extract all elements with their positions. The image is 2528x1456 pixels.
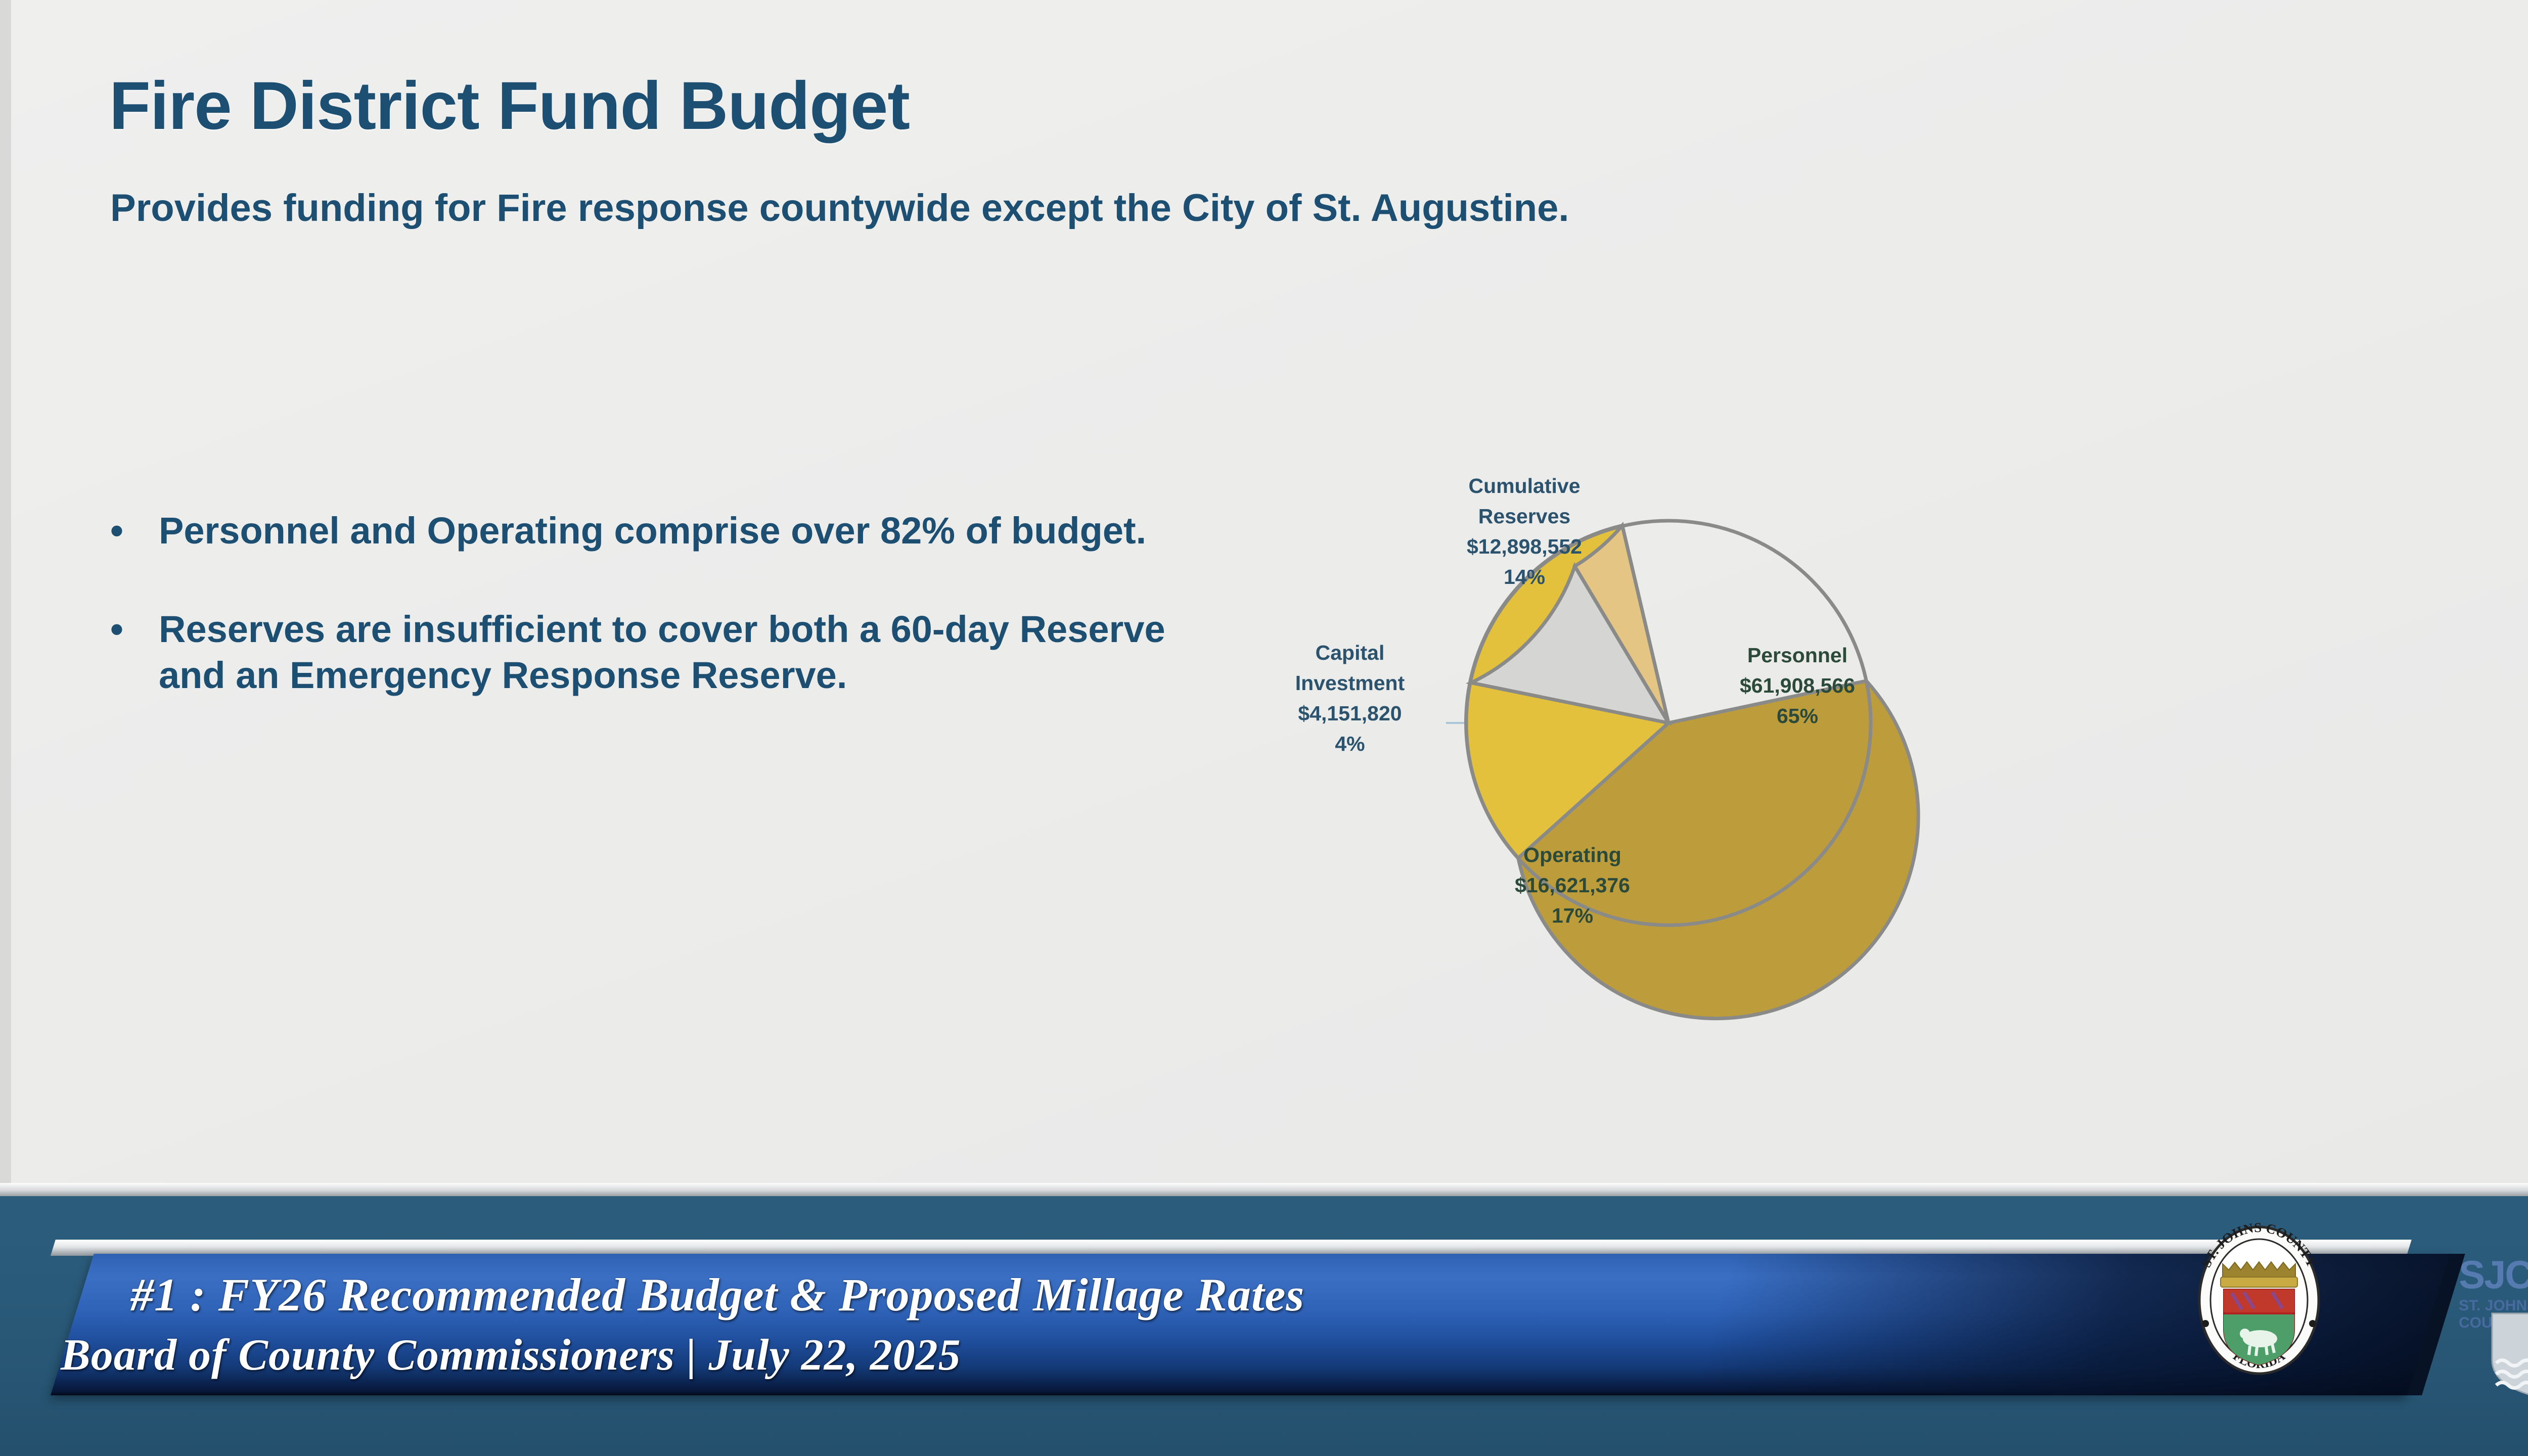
bullet-text: Reserves are insufficient to cover both …	[159, 607, 1212, 698]
pie-label-personnel-percent: 65%	[1777, 704, 1818, 727]
footer-band-top-rail	[0, 1183, 2528, 1196]
presentation-slide: Fire District Fund Budget Provides fundi…	[0, 0, 2528, 1456]
pie-chart-svg: Personnel $61,908,566 65% Operating $16,…	[1224, 369, 2184, 1102]
slide-left-edge	[0, 0, 11, 1189]
pie-label-cumulative-reserves-name-line2: Reserves	[1478, 505, 1570, 528]
pie-label-capital-investment: Capital Investment $4,151,820 4%	[1295, 641, 1405, 755]
banner-meeting-info: Board of County Commissioners | July 22,…	[61, 1330, 961, 1381]
bullet-marker-icon: •	[110, 508, 125, 554]
pie-label-personnel-value: $61,908,566	[1740, 674, 1855, 697]
bullet-list: • Personnel and Operating comprise over …	[110, 508, 1212, 751]
pie-label-operating-value: $16,621,376	[1515, 874, 1630, 897]
pie-label-cumulative-reserves-percent: 14%	[1504, 565, 1545, 588]
pie-label-capital-investment-name-line2: Investment	[1295, 671, 1405, 695]
seal-dot-left	[2202, 1320, 2209, 1327]
list-item: • Personnel and Operating comprise over …	[110, 508, 1212, 554]
pie-label-capital-investment-name-line1: Capital	[1316, 641, 1385, 664]
seal-coat-of-arms-icon	[2224, 1289, 2294, 1365]
banner-agenda-title: #1 : FY26 Recommended Budget & Proposed …	[130, 1268, 1304, 1322]
seal-crown-icon	[2221, 1262, 2297, 1287]
slide-content-area: Fire District Fund Budget Provides fundi…	[0, 0, 2528, 1189]
seal-dot-right	[2309, 1320, 2316, 1327]
sjc-logo-watermark: SJC ST. JOHNS COUNTY	[2455, 1249, 2528, 1400]
pie-label-capital-investment-value: $4,151,820	[1298, 702, 1402, 725]
pie-label-operating-name: Operating	[1523, 843, 1621, 867]
bullet-text: Personnel and Operating comprise over 82…	[159, 508, 1212, 554]
page-title: Fire District Fund Budget	[109, 71, 910, 142]
county-seal-svg: ST. JOHNS COUNTY FLORIDA	[2183, 1213, 2335, 1385]
page-subtitle: Provides funding for Fire response count…	[110, 187, 1569, 230]
sjc-logo-mark: SJC	[2459, 1252, 2528, 1298]
bullet-marker-icon: •	[110, 607, 125, 652]
pie-label-operating-percent: 17%	[1552, 904, 1593, 927]
budget-pie-chart: Personnel $61,908,566 65% Operating $16,…	[1224, 369, 2184, 1102]
pie-slices	[1466, 521, 1919, 1019]
county-seal-logo: ST. JOHNS COUNTY FLORIDA	[2183, 1213, 2335, 1385]
pie-label-cumulative-reserves-name-line1: Cumulative	[1469, 474, 1581, 497]
sjc-shield-icon	[2485, 1309, 2528, 1400]
list-item: • Reserves are insufficient to cover bot…	[110, 607, 1212, 698]
banner-text-group: #1 : FY26 Recommended Budget & Proposed …	[0, 1259, 2124, 1426]
pie-label-personnel-name: Personnel	[1747, 644, 1847, 667]
pie-label-capital-investment-percent: 4%	[1335, 732, 1365, 755]
pie-label-cumulative-reserves-value: $12,898,552	[1467, 535, 1582, 558]
